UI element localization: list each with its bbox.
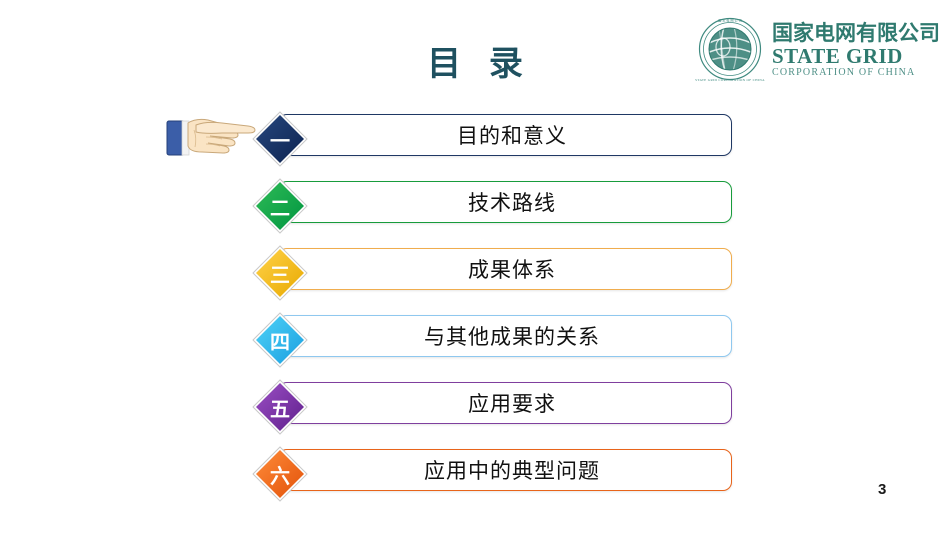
agenda-item-5-box[interactable]: 应用要求 xyxy=(278,382,732,424)
agenda-item-1-diamond[interactable]: 一 xyxy=(250,109,310,169)
agenda-item-5-label: 应用要求 xyxy=(454,388,556,418)
page-title: 目 录 xyxy=(0,36,950,85)
agenda-item-1-label: 目的和意义 xyxy=(443,120,567,150)
page-number: 3 xyxy=(878,481,886,498)
agenda-item-1[interactable]: 目的和意义 一 xyxy=(0,110,950,160)
agenda-item-4-label: 与其他成果的关系 xyxy=(410,321,600,351)
agenda-item-4-diamond[interactable]: 四 xyxy=(250,310,310,370)
agenda-item-4[interactable]: 与其他成果的关系 四 xyxy=(0,311,950,361)
agenda-item-3-box[interactable]: 成果体系 xyxy=(278,248,732,290)
agenda-item-3[interactable]: 成果体系 三 xyxy=(0,244,950,294)
agenda-item-5-diamond[interactable]: 五 xyxy=(250,377,310,437)
slide-canvas: 国 家 电 网 公 司 STATE GRID CORPORATION OF CH… xyxy=(0,0,950,535)
agenda-item-4-box[interactable]: 与其他成果的关系 xyxy=(278,315,732,357)
agenda-list: 目的和意义 一 技术路线 xyxy=(0,110,950,512)
agenda-item-3-diamond[interactable]: 三 xyxy=(250,243,310,303)
agenda-item-2-label: 技术路线 xyxy=(454,187,556,217)
svg-text:国 家 电 网 公 司: 国 家 电 网 公 司 xyxy=(718,18,741,23)
agenda-item-1-box[interactable]: 目的和意义 xyxy=(278,114,732,156)
agenda-item-5[interactable]: 应用要求 五 xyxy=(0,378,950,428)
agenda-item-2-diamond[interactable]: 二 xyxy=(250,176,310,236)
agenda-item-6[interactable]: 应用中的典型问题 六 xyxy=(0,445,950,495)
agenda-item-3-label: 成果体系 xyxy=(454,254,556,284)
agenda-item-6-diamond[interactable]: 六 xyxy=(250,444,310,504)
agenda-item-2-box[interactable]: 技术路线 xyxy=(278,181,732,223)
agenda-item-6-label: 应用中的典型问题 xyxy=(410,455,600,485)
agenda-item-2[interactable]: 技术路线 二 xyxy=(0,177,950,227)
agenda-item-6-box[interactable]: 应用中的典型问题 xyxy=(278,449,732,491)
